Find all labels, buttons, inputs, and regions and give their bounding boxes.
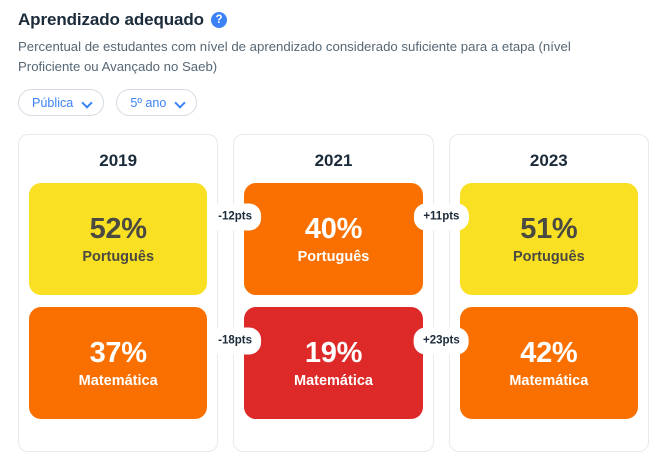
- aprendizado-adequado-panel: Aprendizado adequado ? Percentual de est…: [0, 0, 667, 452]
- grade-filter-value: 5º ano: [130, 96, 166, 110]
- delta-badge-matematica-2021-2023: +23pts: [417, 331, 466, 352]
- metric-card-matematica-2021[interactable]: 19% Matemática: [244, 307, 422, 419]
- metric-card-matematica-2023[interactable]: 42% Matemática: [460, 307, 638, 419]
- year-column-2021: 2021 40% Português 19% Matemática: [233, 134, 433, 452]
- panel-subtitle: Percentual de estudantes com nível de ap…: [18, 37, 618, 77]
- metric-value: 40%: [305, 212, 362, 246]
- filter-bar: Pública 5º ano: [18, 89, 649, 116]
- metric-value: 52%: [90, 212, 147, 246]
- metric-card-portugues-2021[interactable]: 40% Português: [244, 183, 422, 295]
- delta-badge-matematica-2019-2021: -18pts: [212, 331, 258, 352]
- metric-label: Português: [298, 247, 370, 267]
- help-circle-icon[interactable]: ?: [211, 12, 227, 28]
- metric-value: 19%: [305, 336, 362, 370]
- page-title: Aprendizado adequado: [18, 10, 204, 30]
- metric-card-matematica-2019[interactable]: 37% Matemática: [29, 307, 207, 419]
- year-label: 2023: [460, 151, 638, 171]
- delta-badge-portugues-2021-2023: +11pts: [417, 207, 465, 228]
- metric-label: Matemática: [79, 371, 158, 391]
- metric-card-portugues-2019[interactable]: 52% Português: [29, 183, 207, 295]
- network-filter-select[interactable]: Pública: [18, 89, 104, 116]
- network-filter-value: Pública: [32, 96, 73, 110]
- year-comparison-grid: 2019 52% Português 37% Matemática 2021 4…: [18, 134, 649, 452]
- grade-filter-select[interactable]: 5º ano: [116, 89, 197, 116]
- panel-header: Aprendizado adequado ?: [18, 10, 649, 30]
- year-label: 2021: [244, 151, 422, 171]
- year-label: 2019: [29, 151, 207, 171]
- metric-value: 42%: [520, 336, 577, 370]
- year-column-2019: 2019 52% Português 37% Matemática: [18, 134, 218, 452]
- chevron-down-icon: [83, 98, 92, 107]
- metric-label: Matemática: [294, 371, 373, 391]
- metric-label: Português: [82, 247, 154, 267]
- delta-badge-portugues-2019-2021: -12pts: [212, 207, 258, 228]
- metric-value: 51%: [520, 212, 577, 246]
- metric-card-portugues-2023[interactable]: 51% Português: [460, 183, 638, 295]
- year-column-2023: 2023 51% Português 42% Matemática: [449, 134, 649, 452]
- chevron-down-icon: [176, 98, 185, 107]
- metric-label: Matemática: [509, 371, 588, 391]
- metric-label: Português: [513, 247, 585, 267]
- metric-value: 37%: [90, 336, 147, 370]
